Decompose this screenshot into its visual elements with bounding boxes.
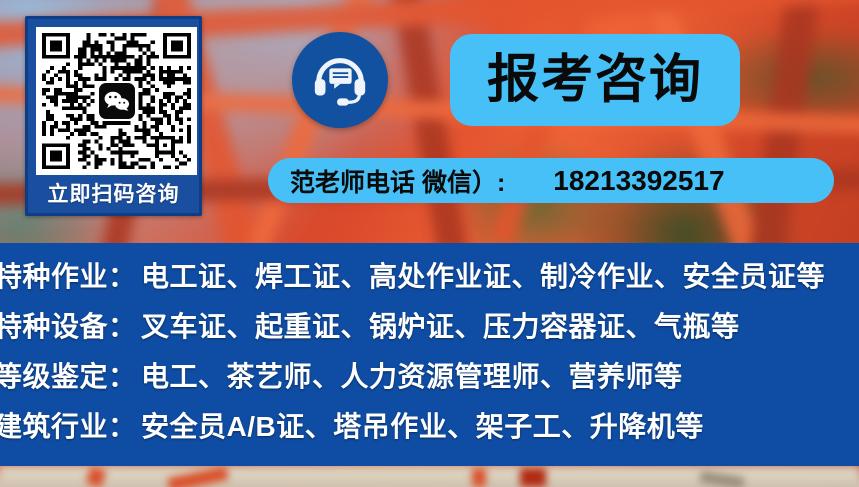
course-category-label: 建筑行业： <box>0 405 141 445</box>
consultation-title-text: 报考咨询 <box>487 54 703 106</box>
course-category-label: 特种作业： <box>0 255 141 295</box>
contact-phone-number[interactable]: 18213392517 <box>553 165 724 197</box>
course-list-banner: 特种作业： 电工证、焊工证、高处作业证、制冷作业、安全员证等 特种设备： 叉车证… <box>0 243 859 466</box>
course-row: 特种作业： 电工证、焊工证、高处作业证、制冷作业、安全员证等 <box>0 255 859 305</box>
course-category-label: 特种设备： <box>0 305 141 345</box>
course-items-label: 电工、茶艺师、人力资源管理师、营养师等 <box>141 355 683 395</box>
headset-support-icon[interactable] <box>292 32 388 128</box>
qr-code-white-area <box>36 27 197 175</box>
course-row: 建筑行业： 安全员A/B证、塔吊作业、架子工、升降机等 <box>0 405 859 455</box>
course-row: 特种设备： 叉车证、起重证、锅炉证、压力容器证、气瓶等 <box>0 305 859 355</box>
contact-label: 范老师电话 微信）: <box>290 163 505 199</box>
qr-code-image[interactable] <box>42 33 191 169</box>
course-category-label: 等级鉴定： <box>0 355 141 395</box>
contact-phone-pill[interactable]: 范老师电话 微信）: 18213392517 <box>268 158 834 203</box>
qr-card-caption: 立即扫码咨询 <box>28 178 199 208</box>
course-items-label: 电工证、焊工证、高处作业证、制冷作业、安全员证等 <box>141 255 825 295</box>
course-items-label: 安全员A/B证、塔吊作业、架子工、升降机等 <box>141 405 704 445</box>
promo-banner-screen: 立即扫码咨询 报考咨询 范老师电话 微信）: 18213392517 特种作业：… <box>0 0 859 487</box>
consultation-title-pill: 报考咨询 <box>450 34 740 126</box>
qr-code-card[interactable]: 立即扫码咨询 <box>25 16 202 216</box>
wechat-logo-icon <box>99 83 135 119</box>
course-row: 等级鉴定： 电工、茶艺师、人力资源管理师、营养师等 <box>0 355 859 405</box>
course-items-label: 叉车证、起重证、锅炉证、压力容器证、气瓶等 <box>141 305 740 345</box>
